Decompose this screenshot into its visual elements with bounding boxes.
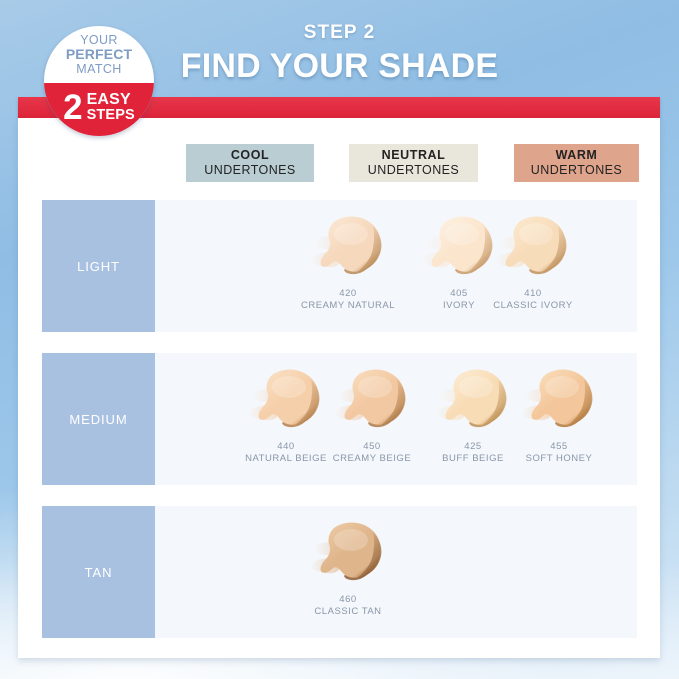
undertone-sub-warm: UNDERTONES xyxy=(531,163,622,178)
shade-row-light: LIGHT xyxy=(42,200,637,332)
badge-bottom-text: 2 EASY STEPS xyxy=(44,83,154,136)
shade-label-420: 420 CREAMY NATURAL xyxy=(292,288,404,313)
shade-name-455: SOFT HONEY xyxy=(503,453,615,465)
swatch-450[interactable] xyxy=(316,359,428,439)
undertone-name-warm: WARM xyxy=(556,148,598,163)
foundation-swatch-shape xyxy=(331,363,413,435)
badge-words: EASY STEPS xyxy=(87,92,135,123)
shade-label-460: 460 CLASSIC TAN xyxy=(292,594,404,619)
undertone-header-warm: WARM UNDERTONES xyxy=(514,144,639,182)
row-label-tan: TAN xyxy=(42,506,155,638)
badge-word-easy: EASY xyxy=(87,92,135,108)
shade-row-tan: TAN xyxy=(42,506,637,638)
badge-line-3: MATCH xyxy=(76,62,121,76)
undertone-sub-neutral: UNDERTONES xyxy=(368,163,459,178)
shade-code-420: 420 xyxy=(292,288,404,300)
shade-label-410: 410 CLASSIC IVORY xyxy=(477,288,589,313)
shade-cell-455[interactable]: 455 SOFT HONEY xyxy=(503,353,615,485)
shade-name-450: CREAMY BEIGE xyxy=(316,453,428,465)
shade-code-460: 460 xyxy=(292,594,404,606)
shade-cell-450[interactable]: 450 CREAMY BEIGE xyxy=(316,353,428,485)
row-label-medium: MEDIUM xyxy=(42,353,155,485)
foundation-swatch-shape xyxy=(518,363,600,435)
shade-name-410: CLASSIC IVORY xyxy=(477,300,589,312)
swatch-455[interactable] xyxy=(503,359,615,439)
shade-name-420: CREAMY NATURAL xyxy=(292,300,404,312)
shade-name-460: CLASSIC TAN xyxy=(292,606,404,618)
row-label-light: LIGHT xyxy=(42,200,155,332)
shade-code-455: 455 xyxy=(503,441,615,453)
foundation-swatch-shape xyxy=(245,363,327,435)
foundation-swatch-shape xyxy=(492,210,574,282)
shade-cell-460[interactable]: 460 CLASSIC TAN xyxy=(292,506,404,638)
shade-code-450: 450 xyxy=(316,441,428,453)
shade-cell-410[interactable]: 410 CLASSIC IVORY xyxy=(477,200,589,332)
shade-label-455: 455 SOFT HONEY xyxy=(503,441,615,466)
shade-label-450: 450 CREAMY BEIGE xyxy=(316,441,428,466)
perfect-match-badge: YOUR PERFECT MATCH 2 EASY STEPS xyxy=(44,26,154,136)
undertone-header-row: COOL UNDERTONES NEUTRAL UNDERTONES WARM … xyxy=(18,144,660,182)
row-cells-light: 420 CREAMY NATURAL xyxy=(155,200,637,332)
foundation-swatch-shape xyxy=(432,363,514,435)
shade-cell-420[interactable]: 420 CREAMY NATURAL xyxy=(292,200,404,332)
swatch-460[interactable] xyxy=(292,512,404,592)
swatch-420[interactable] xyxy=(292,206,404,286)
row-cells-medium: 440 NATURAL BEIGE xyxy=(155,353,637,485)
swatch-410[interactable] xyxy=(477,206,589,286)
badge-line-2: PERFECT xyxy=(66,47,132,63)
shade-chart-panel: COOL UNDERTONES NEUTRAL UNDERTONES WARM … xyxy=(18,118,660,658)
shade-code-410: 410 xyxy=(477,288,589,300)
undertone-sub-cool: UNDERTONES xyxy=(204,163,295,178)
badge-top-text: YOUR PERFECT MATCH xyxy=(44,26,154,83)
badge-word-steps: STEPS xyxy=(87,108,135,123)
undertone-name-cool: COOL xyxy=(231,148,269,163)
row-cells-tan: 460 CLASSIC TAN xyxy=(155,506,637,638)
badge-number: 2 xyxy=(63,90,82,125)
undertone-name-neutral: NEUTRAL xyxy=(382,148,446,163)
undertone-header-cool: COOL UNDERTONES xyxy=(186,144,314,182)
undertone-header-neutral: NEUTRAL UNDERTONES xyxy=(349,144,478,182)
foundation-swatch-shape xyxy=(307,516,389,588)
shade-row-medium: MEDIUM xyxy=(42,353,637,485)
foundation-swatch-shape xyxy=(307,210,389,282)
badge-line-1: YOUR xyxy=(80,33,118,47)
